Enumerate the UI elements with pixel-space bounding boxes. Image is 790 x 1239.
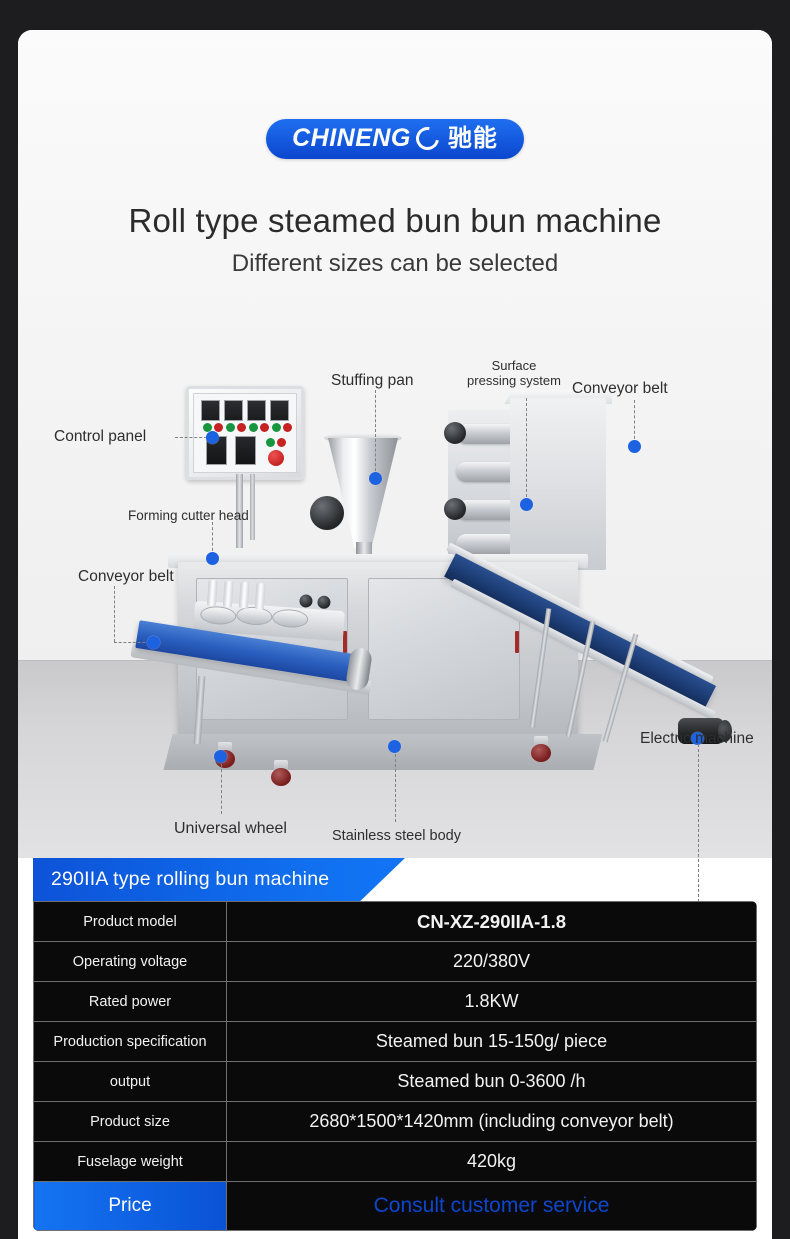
callout-dot-stuffing-pan — [369, 472, 382, 485]
spec-value: 420kg — [227, 1142, 757, 1182]
callout-label-control-panel: Control panel — [54, 428, 146, 446]
hand-wheel — [310, 496, 344, 530]
callout-label-stuffing-pan: Stuffing pan — [331, 372, 413, 390]
spec-table: Product model CN-XZ-290IIA-1.8 Operating… — [33, 901, 757, 1231]
table-row-price: Price Consult customer service — [34, 1182, 757, 1231]
spec-key: Fuselage weight — [34, 1142, 227, 1182]
callout-dot-forming-cutter-head — [206, 552, 219, 565]
universal-wheel-part-3 — [530, 736, 552, 762]
page-subtitle: Different sizes can be selected — [18, 250, 772, 278]
swoosh-circle-icon — [411, 122, 443, 154]
callout-label-forming-cutter-head: Forming cutter head — [128, 508, 249, 524]
callout-label-universal-wheel: Universal wheel — [174, 820, 287, 839]
callout-label-surface-pressing: Surface pressing system — [466, 358, 562, 389]
spec-key: Rated power — [34, 982, 227, 1022]
spec-value: 2680*1500*1420mm (including conveyor bel… — [227, 1102, 757, 1142]
callout-label-surface-pressing-line2: pressing system — [467, 373, 561, 388]
logo-pill: CHINENG 驰能 — [266, 119, 524, 159]
table-row: Rated power 1.8KW — [34, 982, 757, 1022]
page-title: Roll type steamed bun bun machine — [18, 202, 772, 240]
product-image: Control panel Forming cutter head Convey… — [18, 290, 772, 858]
callout-dot-universal-wheel — [214, 750, 227, 763]
spec-key: output — [34, 1062, 227, 1102]
spec-section: 290IIA type rolling bun machine Product … — [18, 858, 772, 1239]
leader-stainless-steel-body — [395, 754, 396, 822]
logo-wordmark-cn: 驰能 — [448, 127, 498, 151]
table-row: Product model CN-XZ-290IIA-1.8 — [34, 902, 757, 942]
callout-dot-control-panel — [206, 431, 219, 444]
spec-banner: 290IIA type rolling bun machine — [33, 858, 405, 901]
callout-label-conveyor-belt-right: Conveyor belt — [572, 380, 668, 398]
callout-dot-conveyor-belt-left — [147, 636, 160, 649]
table-row: Production specification Steamed bun 15-… — [34, 1022, 757, 1062]
callout-label-conveyor-belt-left: Conveyor belt — [78, 568, 174, 586]
universal-wheel-part-2 — [270, 760, 292, 786]
spec-key: Product size — [34, 1102, 227, 1142]
leader-conveyor-belt-left-h — [114, 642, 150, 643]
spec-value: 220/380V — [227, 942, 757, 982]
product-card: CHINENG 驰能 Roll type steamed bun bun mac… — [18, 30, 772, 1239]
spec-value: Steamed bun 0-3600 /h — [227, 1062, 757, 1102]
table-row: output Steamed bun 0-3600 /h — [34, 1062, 757, 1102]
stuffing-pan-cone — [328, 438, 398, 548]
callout-label-electric-machine: Electric machine — [640, 730, 754, 748]
callout-label-stainless-steel-body: Stainless steel body — [332, 828, 461, 845]
leader-conveyor-belt-left-v — [114, 586, 115, 642]
spec-banner-title: 290IIA type rolling bun machine — [33, 868, 329, 891]
leader-forming-cutter-head — [212, 522, 213, 556]
card-bottom-spacer — [18, 1231, 772, 1239]
spec-key: Production specification — [34, 1022, 227, 1062]
table-row: Fuselage weight 420kg — [34, 1142, 757, 1182]
table-row: Operating voltage 220/380V — [34, 942, 757, 982]
price-value-link[interactable]: Consult customer service — [227, 1182, 757, 1231]
spec-value: Steamed bun 15-150g/ piece — [227, 1022, 757, 1062]
spec-value: 1.8KW — [227, 982, 757, 1022]
logo-wordmark: CHINENG — [292, 126, 411, 151]
surface-pressing-unit — [510, 398, 606, 570]
control-panel-part — [186, 386, 304, 480]
spec-key: Product model — [34, 902, 227, 942]
table-row: Product size 2680*1500*1420mm (including… — [34, 1102, 757, 1142]
leader-surface-pressing — [526, 398, 527, 502]
callout-label-surface-pressing-line1: Surface — [492, 358, 537, 373]
callout-dot-surface-pressing — [520, 498, 533, 511]
leader-conveyor-belt-right — [634, 400, 635, 444]
price-label: Price — [34, 1182, 227, 1231]
brand-logo: CHINENG 驰能 — [18, 119, 772, 159]
leader-stuffing-pan — [375, 390, 376, 476]
panel-support-post-2 — [250, 474, 255, 540]
leader-universal-wheel — [221, 764, 222, 814]
spec-value: CN-XZ-290IIA-1.8 — [227, 902, 757, 942]
spec-key: Operating voltage — [34, 942, 227, 982]
callout-dot-stainless-steel-body — [388, 740, 401, 753]
leader-control-panel — [175, 437, 207, 438]
callout-dot-conveyor-belt-right — [628, 440, 641, 453]
hero-section: CHINENG 驰能 Roll type steamed bun bun mac… — [18, 30, 772, 858]
